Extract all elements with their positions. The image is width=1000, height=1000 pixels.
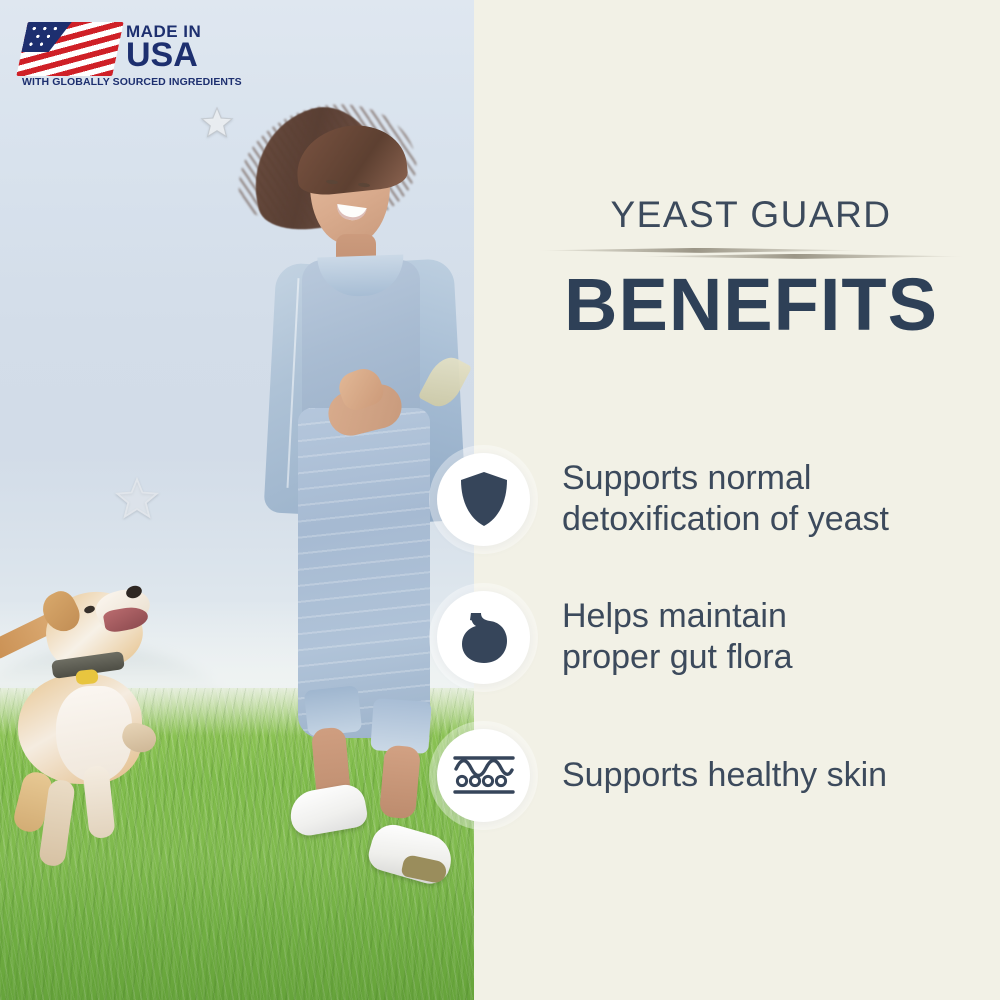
page-title: BENEFITS: [536, 268, 966, 342]
content-panel: YEAST GUARD BENEFITS Supports normal det…: [474, 0, 1000, 1000]
sneaker-left: [287, 782, 369, 839]
shin-right: [379, 745, 421, 820]
title-block: YEAST GUARD BENEFITS: [536, 196, 966, 342]
ornamental-divider: [536, 246, 966, 262]
star-icon: [112, 474, 162, 524]
list-item: Supports normal detoxification of yeast: [437, 452, 1000, 546]
dog-figure: [0, 556, 220, 906]
skin-layers-icon: [437, 729, 530, 822]
list-item: Supports healthy skin: [437, 728, 1000, 822]
divider-line-bottom: [636, 254, 966, 259]
product-name: YEAST GUARD: [536, 196, 966, 235]
badge-line2: USA: [126, 38, 198, 72]
benefits-list: Supports normal detoxification of yeast …: [437, 452, 1000, 822]
list-item: Helps maintain proper gut flora: [437, 590, 1000, 684]
sneaker-right: [365, 820, 457, 889]
list-item-label: Supports healthy skin: [562, 755, 887, 796]
shield-icon: [437, 453, 530, 546]
dog-collar-tag: [75, 669, 98, 685]
lifestyle-photo: MADE IN USA WITH GLOBALLY SOURCED INGRED…: [0, 0, 474, 1000]
badge-subtitle: WITH GLOBALLY SOURCED INGREDIENTS: [22, 76, 242, 88]
divider-line-top: [536, 248, 866, 253]
stomach-icon: [437, 591, 530, 684]
made-in-usa-badge: MADE IN USA WITH GLOBALLY SOURCED INGRED…: [22, 16, 232, 94]
promo-graphic: MADE IN USA WITH GLOBALLY SOURCED INGRED…: [0, 0, 1000, 1000]
list-item-label: Supports normal detoxification of yeast: [562, 458, 889, 540]
usa-flag-icon: [16, 22, 123, 76]
list-item-label: Helps maintain proper gut flora: [562, 596, 793, 678]
star-icon: [198, 104, 236, 142]
